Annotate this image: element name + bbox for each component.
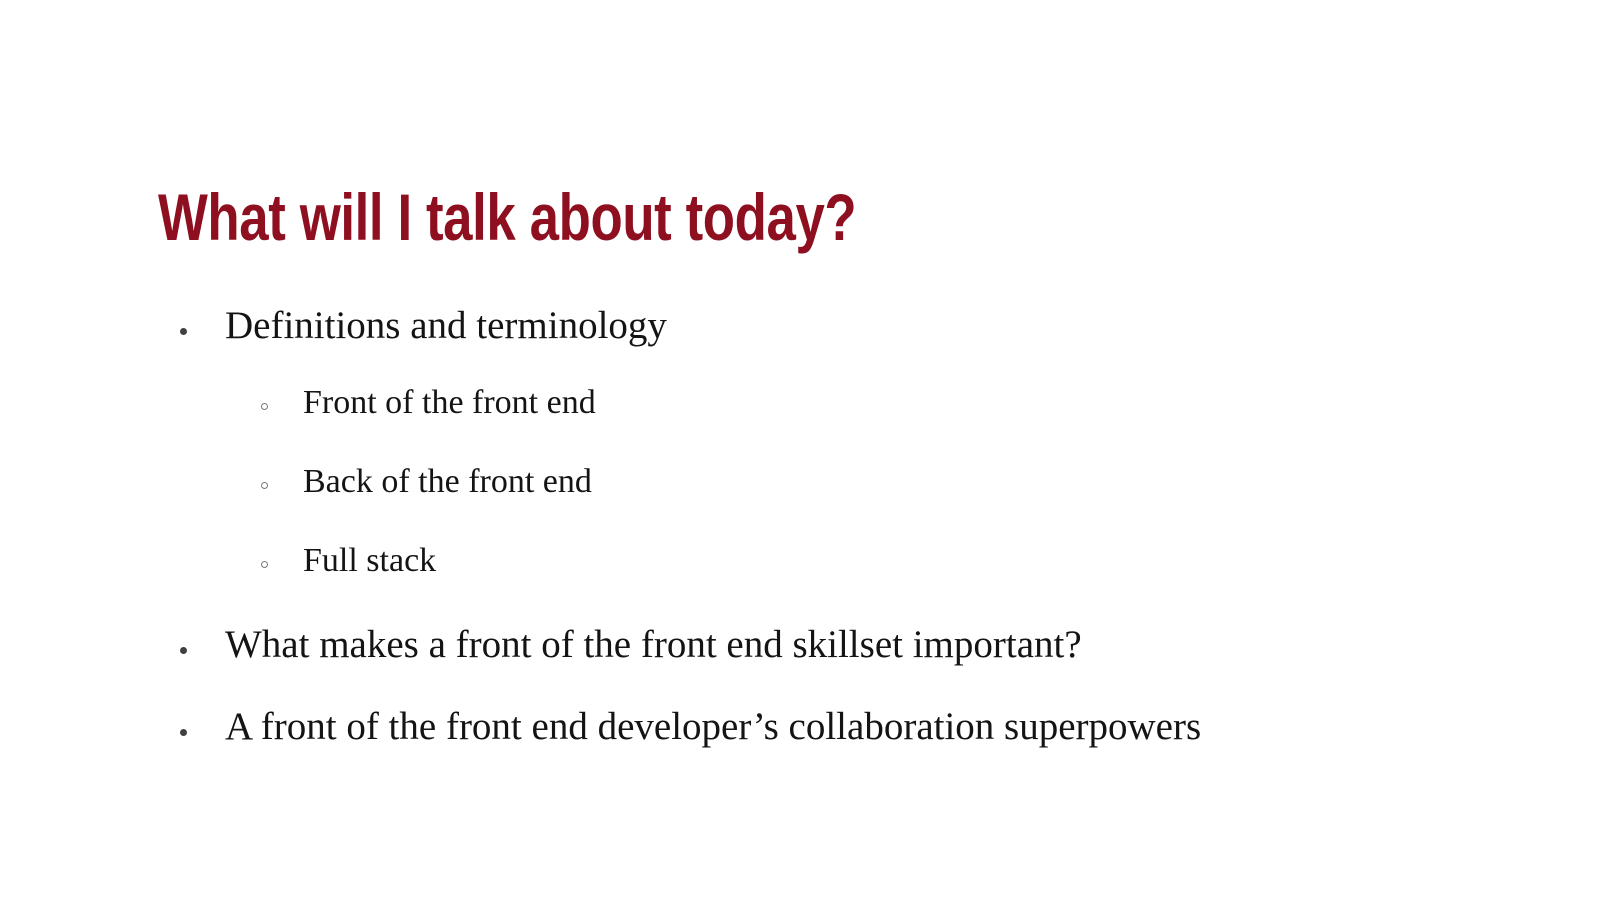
filled-disc-bullet-icon — [180, 328, 187, 335]
list-item: Full stack — [158, 533, 1478, 601]
hollow-circle-bullet-icon — [261, 561, 268, 568]
list-item: Front of the front end — [158, 375, 1478, 443]
list-item: Back of the front end — [158, 454, 1478, 522]
list-item: Definitions and terminology — [158, 296, 1478, 364]
page-title: What will I talk about today? — [158, 179, 1190, 255]
list-item: A front of the front end developer’s col… — [158, 697, 1478, 765]
filled-disc-bullet-icon — [180, 729, 187, 736]
presentation-slide: What will I talk about today? Definition… — [0, 0, 1600, 900]
list-item-label: Back of the front end — [303, 454, 1478, 510]
list-item-label: Front of the front end — [303, 375, 1478, 431]
filled-disc-bullet-icon — [180, 647, 187, 654]
list-item-label: Definitions and terminology — [225, 296, 1478, 356]
list-item-label: A front of the front end developer’s col… — [225, 697, 1478, 757]
hollow-circle-bullet-icon — [261, 403, 268, 410]
list-item-label: What makes a front of the front end skil… — [225, 615, 1478, 675]
bullet-outline-list: Definitions and terminology Front of the… — [158, 296, 1478, 765]
hollow-circle-bullet-icon — [261, 482, 268, 489]
list-item-label: Full stack — [303, 533, 1478, 589]
list-item: What makes a front of the front end skil… — [158, 615, 1478, 683]
